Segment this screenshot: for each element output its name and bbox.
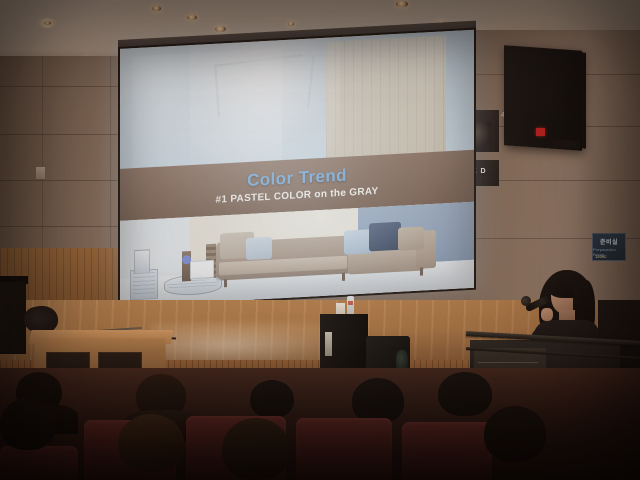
projection-screen: Color Trend #1 PASTEL COLOR on the GRAY bbox=[118, 28, 476, 309]
auditorium-scene: ERNI SPACE D 4 준비실 Preparation Room 1209… bbox=[0, 0, 640, 480]
jbl-logo-badge bbox=[536, 128, 545, 136]
downlight-4 bbox=[215, 26, 226, 32]
seat-0 bbox=[0, 446, 78, 480]
downlight-3 bbox=[187, 15, 197, 20]
door-sign-korean: 준비실 bbox=[600, 237, 618, 246]
wall-fixture bbox=[36, 167, 45, 179]
slide-vase-a bbox=[134, 249, 150, 274]
water-bottle bbox=[347, 296, 354, 315]
slide-cushion-3 bbox=[344, 229, 372, 255]
slide-card-decor bbox=[190, 260, 214, 279]
downlight-2 bbox=[152, 6, 161, 11]
audience-head-back-5 bbox=[438, 372, 492, 416]
audience-head-front-2 bbox=[0, 398, 56, 450]
equipment-case-label bbox=[325, 332, 332, 356]
screen-surface: Color Trend #1 PASTEL COLOR on the GRAY bbox=[120, 30, 474, 307]
audience-head-front-1 bbox=[118, 414, 184, 472]
seat-4 bbox=[402, 422, 492, 480]
audience-head-front-3 bbox=[222, 418, 290, 480]
slide-upper-image bbox=[120, 30, 474, 171]
seat-3 bbox=[296, 418, 392, 480]
downlight-7 bbox=[396, 1, 408, 7]
downlight-6 bbox=[288, 22, 294, 26]
presenter-hand bbox=[541, 308, 553, 321]
slide-cushion-2 bbox=[246, 237, 272, 260]
audience-head-front-4 bbox=[484, 406, 546, 462]
door-sign: 준비실 Preparation Room 1209C bbox=[592, 233, 626, 261]
slide-highlight bbox=[190, 37, 340, 165]
left-floor-speaker bbox=[0, 282, 26, 354]
slide-cushion-navy bbox=[369, 222, 401, 252]
slide-subtitle: #1 PASTEL COLOR on the GRAY bbox=[216, 187, 379, 206]
downlight-1 bbox=[44, 21, 51, 25]
slide-interior-photo bbox=[120, 202, 474, 307]
slide-cushion-5 bbox=[398, 226, 424, 250]
door-sign-code: 1209C bbox=[595, 254, 607, 259]
slide-title: Color Trend bbox=[247, 167, 347, 189]
audience-head-back-3 bbox=[250, 380, 294, 418]
slide-wood-panel bbox=[326, 35, 446, 159]
